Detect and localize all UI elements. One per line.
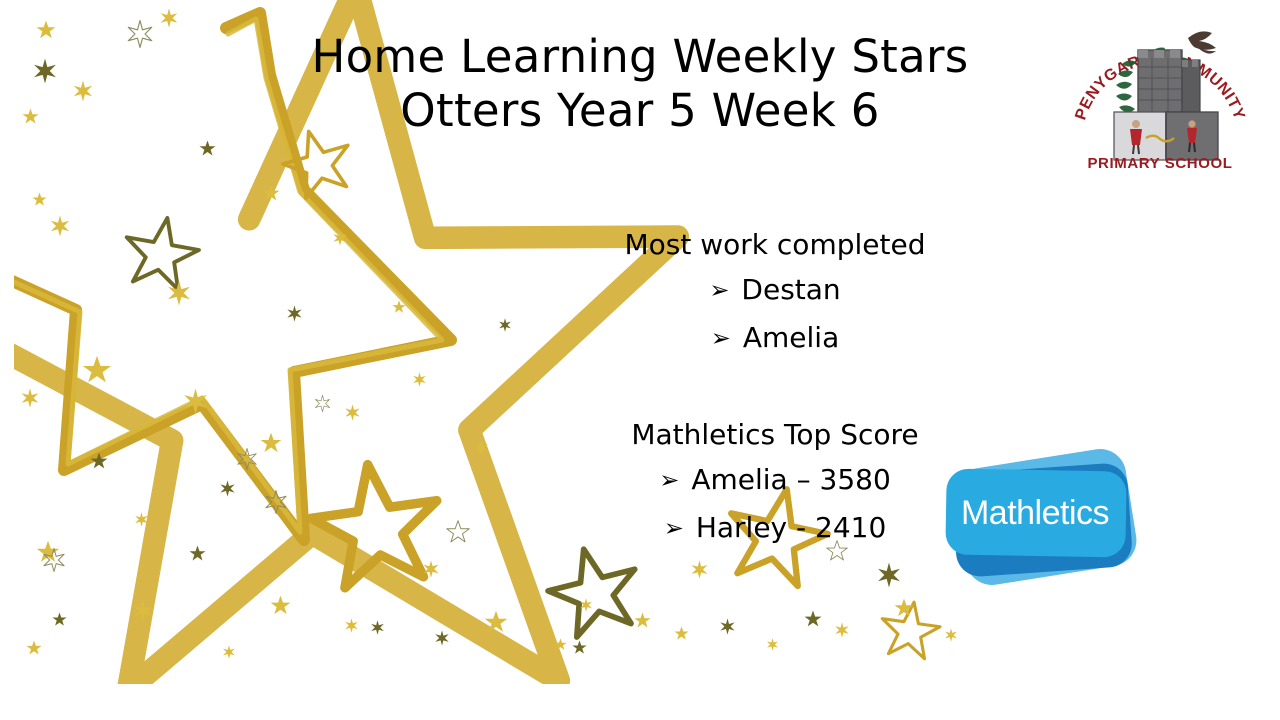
mathletics-wordmark: Mathletics bbox=[961, 494, 1109, 532]
medium-star-outline-1 bbox=[305, 456, 447, 591]
bullet-list: ➢Destan ➢Amelia bbox=[560, 266, 990, 362]
medium-star-outline-4 bbox=[119, 212, 203, 292]
list-item-label: Destan bbox=[741, 273, 840, 306]
list-item: ➢Harley - 2410 bbox=[560, 504, 990, 552]
page-title: Home Learning Weekly Stars Otters Year 5… bbox=[210, 30, 1070, 138]
bird-icon bbox=[1188, 31, 1216, 53]
list-item-label: Harley - 2410 bbox=[696, 511, 886, 544]
open-book-icon bbox=[1114, 112, 1218, 160]
school-logo: PENYGARN COMMUNITY bbox=[1070, 12, 1250, 170]
title-line-1: Home Learning Weekly Stars bbox=[210, 30, 1070, 84]
list-item-label: Amelia bbox=[743, 321, 839, 354]
section-most-work-completed: Most work completed ➢Destan ➢Amelia bbox=[560, 224, 990, 362]
list-item: ➢Amelia bbox=[560, 314, 990, 362]
section-heading: Mathletics Top Score bbox=[560, 414, 990, 456]
list-item-label: Amelia – 3580 bbox=[691, 463, 890, 496]
mathletics-logo: Mathletics bbox=[938, 444, 1150, 594]
list-item: ➢Destan bbox=[560, 266, 990, 314]
slide-canvas: Home Learning Weekly Stars Otters Year 5… bbox=[0, 0, 1280, 720]
section-heading: Most work completed bbox=[560, 224, 990, 266]
medium-star-outline-6 bbox=[878, 598, 943, 660]
bullet-list: ➢Amelia – 3580 ➢Harley - 2410 bbox=[560, 456, 990, 552]
list-item: ➢Amelia – 3580 bbox=[560, 456, 990, 504]
school-logo-bottom-text: PRIMARY SCHOOL bbox=[1087, 155, 1232, 170]
section-mathletics-top-score: Mathletics Top Score ➢Amelia – 3580 ➢Har… bbox=[560, 414, 990, 552]
arrow-bullet-icon: ➢ bbox=[709, 267, 729, 314]
arrow-bullet-icon: ➢ bbox=[659, 457, 679, 504]
title-line-2: Otters Year 5 Week 6 bbox=[210, 84, 1070, 138]
body-text-block: Most work completed ➢Destan ➢Amelia Math… bbox=[560, 224, 990, 552]
medium-star-outline-3 bbox=[540, 538, 647, 641]
arrow-bullet-icon: ➢ bbox=[664, 505, 684, 552]
arrow-bullet-icon: ➢ bbox=[711, 315, 731, 362]
